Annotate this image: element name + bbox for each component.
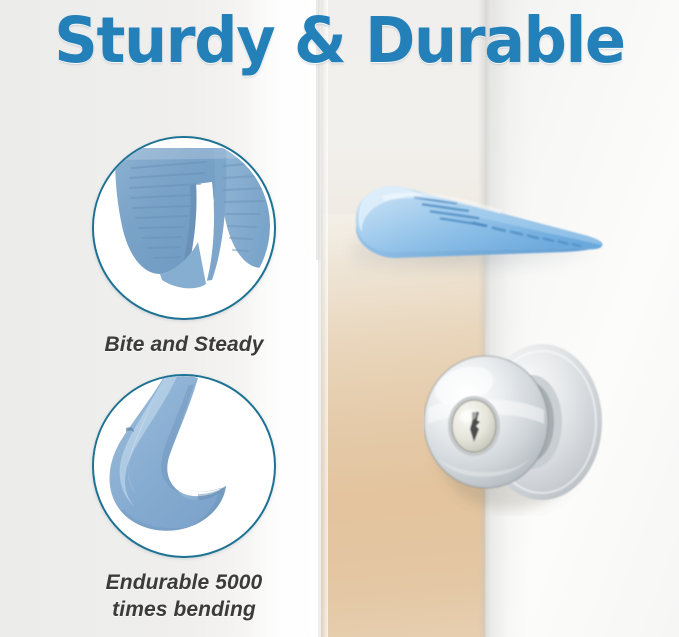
feature-label: Endurable 5000 times bending [84,569,284,623]
door-edge-right [478,0,492,637]
feature-callout-bite-and-steady: Bite and Steady [84,136,284,358]
feature-icon-circle [92,374,276,558]
door-stop-product-photo [352,176,608,268]
door-stop-wedge-cross-section-icon [94,138,270,314]
door-stop-wedge-icon [352,176,608,268]
feature-label: Bite and Steady [84,331,284,358]
chrome-doorknob-icon [424,330,608,516]
feature-callout-endurable-bending: Endurable 5000 times bending [84,374,284,623]
feature-icon-circle [92,136,276,320]
doorknob-photo [424,330,608,516]
product-feature-image: Sturdy & Durable [0,0,679,637]
page-title: Sturdy & Durable [14,9,666,72]
door-stop-bent-flexed-icon [94,376,270,552]
door-edge-left [318,0,328,637]
